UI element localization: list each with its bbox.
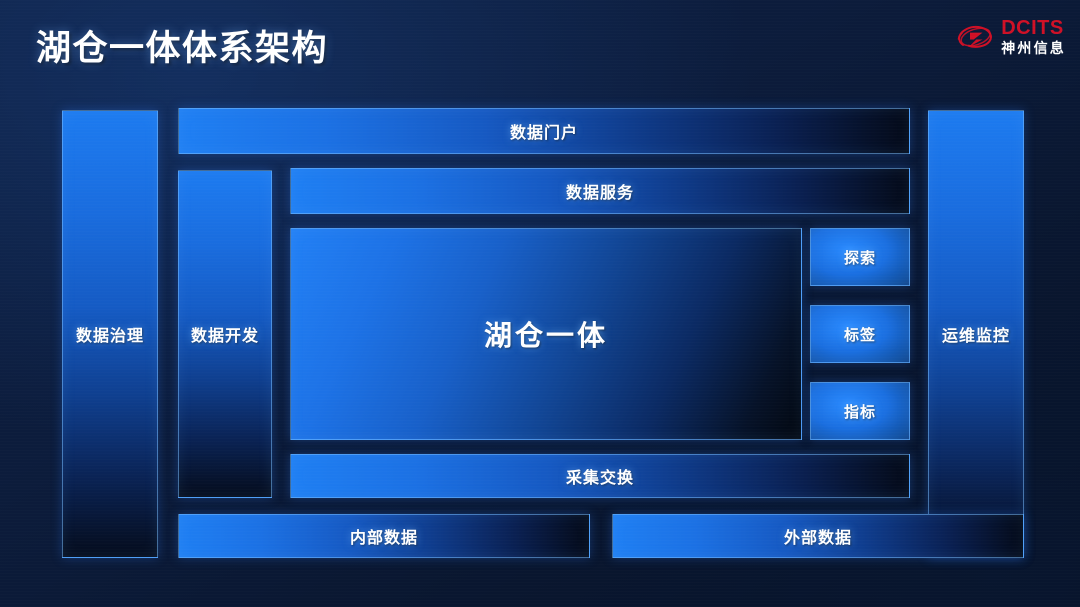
dcits-swirl-icon xyxy=(955,20,995,54)
block-external-data[interactable]: 外部数据 xyxy=(612,514,1024,558)
block-collect-exchange[interactable]: 采集交换 xyxy=(290,454,910,498)
block-chip-tag-label: 标签 xyxy=(844,324,876,345)
block-chip-metric[interactable]: 指标 xyxy=(810,382,910,440)
block-collect-exchange-label: 采集交换 xyxy=(566,464,634,488)
block-chip-explore-label: 探索 xyxy=(844,247,876,268)
block-data-development-label: 数据开发 xyxy=(191,322,259,346)
block-ops-monitoring[interactable]: 运维监控 xyxy=(928,110,1024,558)
logo-wordmark: DCITS 神州信息 xyxy=(1001,18,1066,55)
block-chip-explore[interactable]: 探索 xyxy=(810,228,910,286)
block-data-governance[interactable]: 数据治理 xyxy=(62,110,158,558)
brand-logo: DCITS 神州信息 xyxy=(955,18,1066,55)
block-lakehouse-core-label: 湖仓一体 xyxy=(484,314,608,354)
logo-chinese: 神州信息 xyxy=(1001,41,1066,55)
block-data-portal[interactable]: 数据门户 xyxy=(178,108,910,154)
block-data-governance-label: 数据治理 xyxy=(76,322,144,346)
block-chip-metric-label: 指标 xyxy=(844,401,876,422)
block-ops-monitoring-label: 运维监控 xyxy=(942,322,1010,346)
slide-canvas: 湖仓一体体系架构 DCITS 神州信息 数据治理 数据开发 运维监控 数据门户 … xyxy=(0,0,1080,607)
block-data-development[interactable]: 数据开发 xyxy=(178,170,272,498)
block-data-service[interactable]: 数据服务 xyxy=(290,168,910,214)
page-title: 湖仓一体体系架构 xyxy=(36,20,328,71)
logo-english: DCITS xyxy=(1001,18,1066,38)
block-external-data-label: 外部数据 xyxy=(784,524,852,548)
block-data-service-label: 数据服务 xyxy=(566,179,634,203)
block-chip-tag[interactable]: 标签 xyxy=(810,305,910,363)
block-internal-data[interactable]: 内部数据 xyxy=(178,514,590,558)
block-data-portal-label: 数据门户 xyxy=(510,119,578,143)
block-internal-data-label: 内部数据 xyxy=(350,524,418,548)
block-lakehouse-core[interactable]: 湖仓一体 xyxy=(290,228,802,440)
